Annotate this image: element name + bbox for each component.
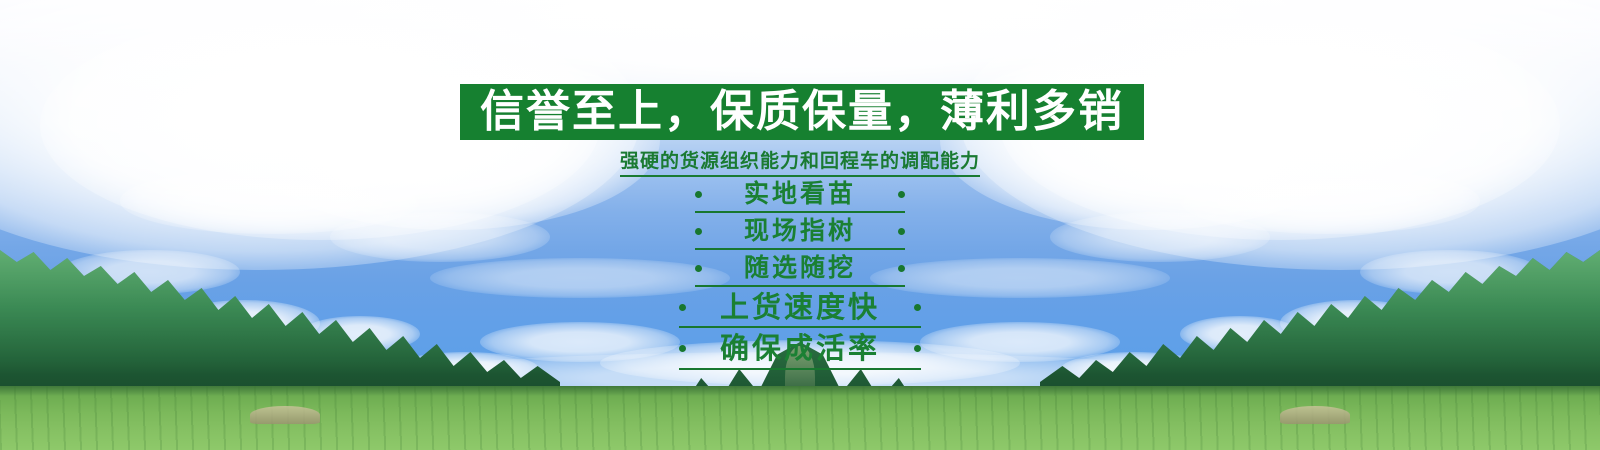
feature-label: 随选随挖 (720, 254, 880, 282)
soil-mound (1280, 406, 1350, 424)
feature-item: 确保成活率 (679, 332, 921, 369)
headline-text: 信誉至上，保质保量，薄利多销 (480, 90, 1124, 134)
feature-label: 实地看苗 (720, 180, 880, 208)
bullet-dot-icon (898, 265, 905, 272)
subtitle-text: 强硬的货源组织能力和回程车的调配能力 (620, 146, 980, 177)
bullet-dot-icon (695, 265, 702, 272)
bullet-dot-icon (679, 304, 686, 311)
bullet-dot-icon (695, 191, 702, 198)
bullet-dot-icon (898, 228, 905, 235)
bullet-dot-icon (679, 345, 686, 352)
bullet-dot-icon (914, 345, 921, 352)
grass-field (0, 386, 1600, 450)
crop-rows (0, 386, 1600, 450)
bullet-dot-icon (695, 228, 702, 235)
promo-banner: 信誉至上，保质保量，薄利多销 强硬的货源组织能力和回程车的调配能力 实地看苗 现… (0, 0, 1600, 450)
feature-label: 确保成活率 (704, 332, 896, 364)
feature-item: 实地看苗 (695, 180, 905, 213)
feature-item: 现场指树 (695, 217, 905, 250)
feature-item: 随选随挖 (695, 254, 905, 287)
subtitle-container: 强硬的货源组织能力和回程车的调配能力 (0, 146, 1600, 177)
bullet-dot-icon (914, 304, 921, 311)
feature-item: 上货速度快 (679, 291, 921, 328)
headline-band: 信誉至上，保质保量，薄利多销 (460, 84, 1144, 140)
soil-mound (250, 406, 320, 424)
feature-list: 实地看苗 现场指树 随选随挖 上货速度快 确保成活率 (0, 180, 1600, 374)
bullet-dot-icon (898, 191, 905, 198)
feature-label: 现场指树 (720, 217, 880, 245)
feature-label: 上货速度快 (704, 291, 896, 323)
